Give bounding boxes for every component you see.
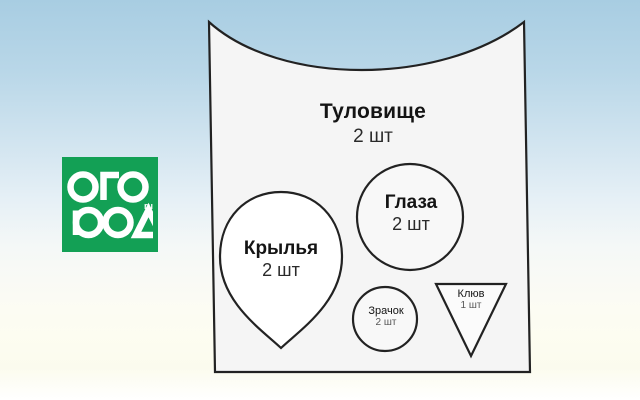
piece-label-eyes: Глаза 2 шт xyxy=(355,192,467,234)
piece-label-body: Туловище 2 шт xyxy=(228,100,518,147)
piece-quantity-pupil: 2 шт xyxy=(355,317,417,328)
diagram-canvas: ru Туловище 2 шт Глаза 2 шт Крылья 2 шт … xyxy=(0,0,640,400)
piece-title-wings: Крылья xyxy=(220,238,342,259)
piece-title-body: Туловище xyxy=(228,100,518,124)
piece-label-beak: Клюв 1 шт xyxy=(440,288,502,312)
piece-label-pupil: Зрачок 2 шт xyxy=(355,305,417,329)
piece-label-wings: Крылья 2 шт xyxy=(220,238,342,280)
piece-title-eyes: Глаза xyxy=(355,192,467,213)
piece-quantity-beak: 1 шт xyxy=(440,300,502,311)
piece-quantity-eyes: 2 шт xyxy=(355,214,467,234)
piece-title-pupil: Зрачок xyxy=(355,305,417,317)
piece-quantity-body: 2 шт xyxy=(228,126,518,147)
piece-quantity-wings: 2 шт xyxy=(220,260,342,280)
piece-title-beak: Клюв xyxy=(440,288,502,300)
pattern-sheet-group xyxy=(0,0,640,400)
